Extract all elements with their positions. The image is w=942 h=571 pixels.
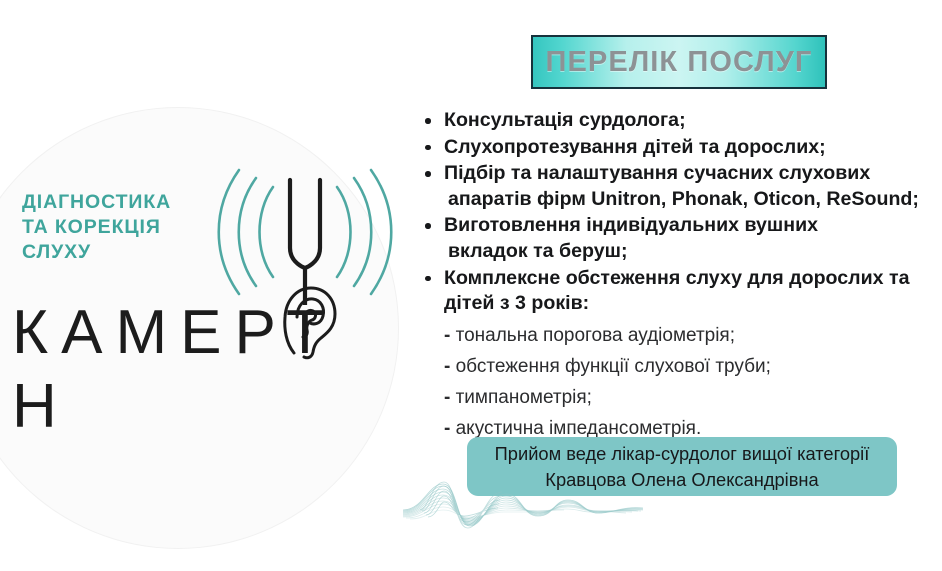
bullet-dot-icon	[425, 223, 431, 229]
examination-sublist: - тональна порогова аудіометрія; - обсте…	[444, 320, 914, 444]
list-item-line-1: Комплексне обстеження слуху для дорослих…	[444, 267, 910, 289]
sublist-item-label: тональна порогова аудіометрія;	[456, 325, 735, 346]
section-title-text: ПЕРЕЛІК ПОСЛУГ	[533, 37, 825, 87]
sublist-item-label: тимпанометрія;	[456, 387, 592, 408]
logo-tagline-line-1: ДІАГНОСТИКА	[22, 190, 237, 215]
list-item-line-2: дітей з 3 років:	[444, 291, 938, 317]
doctor-info-line-1: Прийом веде лікар-сурдолог вищої категор…	[495, 441, 870, 467]
logo-tagline-line-3: СЛУХУ	[22, 240, 237, 265]
list-item-line-1: Слухопротезування дітей та дорослих;	[444, 136, 826, 158]
sublist-item: - тональна порогова аудіометрія;	[444, 320, 914, 351]
section-title-box: ПЕРЕЛІК ПОСЛУГ	[531, 35, 827, 89]
list-item-line-1: Виготовлення індивідуальних вушних	[444, 214, 818, 236]
promotional-slide: ДІАГНОСТИКА ТА КОРЕКЦІЯ СЛУХУ	[0, 0, 942, 571]
list-item: Консультація сурдолога;	[418, 108, 938, 134]
list-item-line-2: апаратів фірм Unitron, Phonak, Oticon, R…	[444, 187, 938, 213]
services-list: Консультація сурдолога; Слухопротезуванн…	[418, 108, 938, 318]
sublist-dash: -	[444, 387, 450, 408]
bullet-dot-icon	[425, 171, 431, 177]
sublist-dash: -	[444, 418, 450, 439]
sound-wave-decoration	[398, 480, 673, 550]
bullet-dot-icon	[425, 145, 431, 151]
sublist-dash: -	[444, 325, 450, 346]
logo-tagline-line-2: ТА КОРЕКЦІЯ	[22, 215, 237, 240]
sublist-item: - обстеження функції слухової труби;	[444, 351, 914, 382]
sublist-item-label: обстеження функції слухової труби;	[456, 356, 771, 377]
list-item: Виготовлення індивідуальних вушних вклад…	[418, 213, 938, 264]
list-item: Слухопротезування дітей та дорослих;	[418, 135, 938, 161]
sublist-dash: -	[444, 356, 450, 377]
bullet-dot-icon	[425, 118, 431, 124]
ear-icon	[279, 283, 341, 361]
list-item-line-1: Підбір та налаштування сучасних слухових	[444, 162, 870, 184]
list-item: Підбір та налаштування сучасних слухових…	[418, 161, 938, 212]
logo-panel: ДІАГНОСТИКА ТА КОРЕКЦІЯ СЛУХУ	[0, 0, 400, 571]
logo-tagline: ДІАГНОСТИКА ТА КОРЕКЦІЯ СЛУХУ	[22, 190, 237, 265]
sublist-item-label: акустична імпедансометрія.	[456, 418, 702, 439]
bullet-dot-icon	[425, 276, 431, 282]
list-item-line-1: Консультація сурдолога;	[444, 109, 686, 131]
list-item-line-2: вкладок та беруш;	[444, 239, 938, 265]
sublist-item: - тимпанометрія;	[444, 382, 914, 413]
list-item: Комплексне обстеження слуху для дорослих…	[418, 266, 938, 317]
